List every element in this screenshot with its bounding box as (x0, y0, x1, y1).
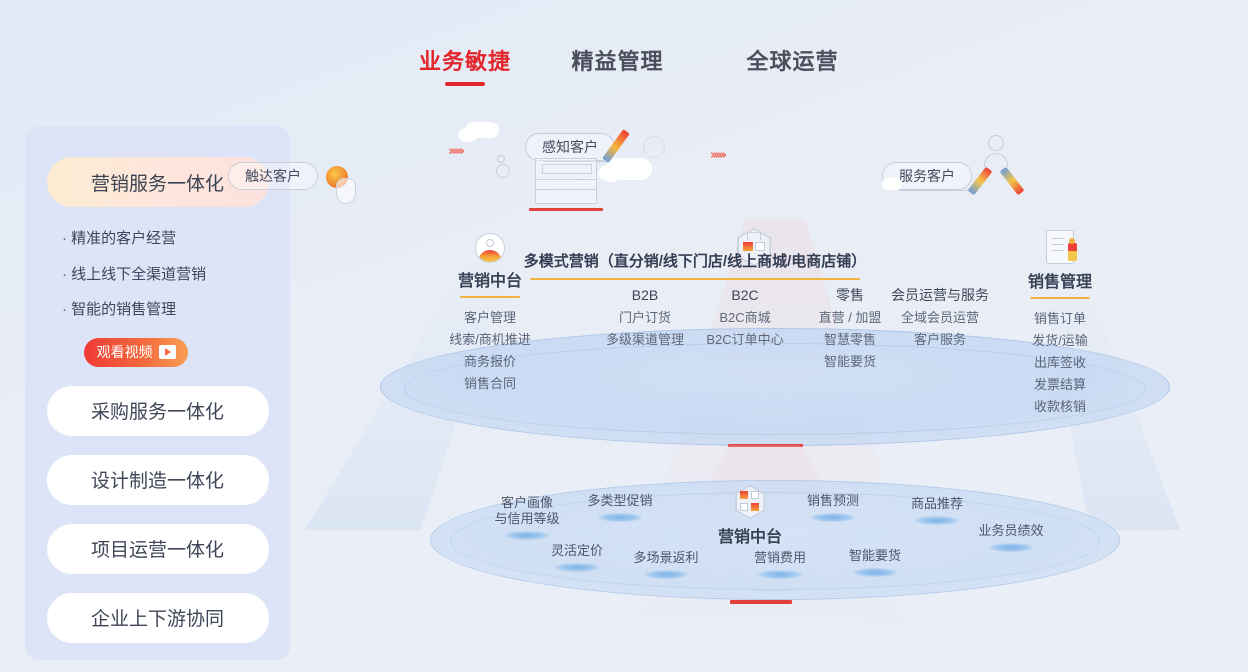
center-column-membership-item-1: 客户服务 (860, 329, 1020, 351)
store-kiosk-icon (535, 158, 597, 204)
tag-product-recommendation: 商品推荐 (892, 496, 982, 525)
watch-video-button[interactable]: 观看视频 (84, 338, 188, 367)
sales-management-item-4: 收款核销 (1000, 396, 1120, 418)
sidebar-bullet-1: 线上线下全渠道营销 (62, 267, 290, 284)
multi-mode-marketing-rule (530, 278, 860, 280)
tag-sales-forecast-label: 销售预测 (788, 493, 878, 509)
sales-management-item-1: 发货/运输 (1000, 330, 1120, 352)
tag-base-2 (598, 513, 642, 522)
search-magnifier-head (497, 155, 505, 163)
sales-management-item-0: 销售订单 (1000, 308, 1120, 330)
sales-management-title: 销售管理 (1000, 268, 1120, 292)
sales-management-column: 销售管理 销售订单 发货/运输 出库签收 发票结算 收款核销 (1000, 230, 1120, 418)
tag-multi-promotion-label: 多类型促销 (575, 493, 665, 509)
tag-marketing-expense: 营销费用 (735, 550, 825, 579)
tag-base-7 (853, 568, 897, 577)
lightbulb-icon (643, 136, 665, 158)
marketing-platform-item-0: 客户管理 (430, 307, 550, 329)
sidebar-bullet-2: 智能的销售管理 (62, 302, 290, 319)
tag-base-3 (555, 563, 599, 572)
flow-step-reach[interactable]: 触达客户 (228, 162, 318, 190)
marketing-platform-item-3: 销售合同 (430, 373, 550, 395)
tag-smart-ordering: 智能要货 (830, 548, 920, 577)
flow-step-perceive-label: 感知客户 (542, 137, 598, 157)
sales-management-item-3: 发票结算 (1000, 374, 1120, 396)
upper-platform-accent-line (728, 444, 803, 447)
store-accent-line (529, 208, 603, 211)
center-column-membership-head: 会员运营与服务 (860, 283, 1020, 307)
chevron-arrow-1: ›››››› (448, 144, 462, 159)
bottom-marketing-platform-title: 营销中台 (705, 523, 795, 547)
watch-video-label: 观看视频 (97, 342, 153, 362)
tag-base-9 (989, 543, 1033, 552)
tab-business-agile[interactable]: 业务敏捷 (400, 44, 530, 86)
chevron-arrow-2: ›››››› (710, 148, 724, 163)
play-icon (159, 345, 176, 359)
tag-customer-profile: 客户画像 与信用等级 (482, 495, 572, 540)
marketing-platform-item-1: 线索/商机推进 (430, 329, 550, 351)
tag-multi-scenario-rebate-label: 多场景返利 (618, 550, 714, 566)
person-icon-head (988, 135, 1004, 151)
center-column-membership-item-0: 全域会员运营 (860, 307, 1020, 329)
sidebar-pill-list: 采购服务一体化 设计制造一体化 项目运营一体化 企业上下游协同 (25, 386, 290, 643)
bottom-marketing-platform: 营销中台 (705, 485, 795, 547)
sales-management-item-2: 出库签收 (1000, 352, 1120, 374)
marketing-platform-rule (460, 296, 520, 298)
sidebar-item-design-manufacture[interactable]: 设计制造一体化 (47, 455, 269, 505)
flow-step-perceive[interactable]: 感知客户 (525, 133, 615, 161)
center-column-membership: 会员运营与服务 全域会员运营 客户服务 (860, 283, 1020, 351)
center-column-retail-item-2: 智能要货 (780, 351, 920, 373)
customer-flow-row: 感知客户 ›››››› ›››››› 触达客户 服务客户 (300, 100, 1248, 210)
tag-base-6 (758, 570, 802, 579)
tag-marketing-expense-label: 营销费用 (735, 550, 825, 566)
tag-flexible-pricing-label: 灵活定价 (532, 543, 622, 559)
flow-step-service-label: 服务客户 (899, 166, 955, 186)
clipboard-icon (1000, 230, 1120, 264)
sales-management-rule (1030, 297, 1090, 299)
marketing-platform-item-2: 商务报价 (430, 351, 550, 373)
lower-platform-accent-line (730, 600, 792, 604)
tag-multi-scenario-rebate: 多场景返利 (618, 550, 714, 579)
tag-salesperson-performance: 业务员绩效 (963, 523, 1059, 552)
tag-multi-promotion: 多类型促销 (575, 493, 665, 522)
sidebar-item-project-operation[interactable]: 项目运营一体化 (47, 524, 269, 574)
sidebar-item-supply-chain[interactable]: 企业上下游协同 (47, 593, 269, 643)
tag-sales-forecast: 销售预测 (788, 493, 878, 522)
tag-flexible-pricing: 灵活定价 (532, 543, 622, 572)
tag-base-5 (811, 513, 855, 522)
tag-base-1 (505, 531, 549, 540)
flow-underline-2 (900, 190, 978, 191)
tag-customer-profile-line2: 与信用等级 (482, 511, 572, 527)
cloud-icon-3 (882, 178, 902, 190)
tab-global-operations[interactable]: 全球运营 (705, 44, 880, 86)
multi-mode-marketing-title: 多模式营销（直分销/线下门店/线上商城/电商店铺） (495, 250, 895, 271)
tag-salesperson-performance-label: 业务员绩效 (963, 523, 1059, 539)
sidebar-bullet-list: 精准的客户经营 线上线下全渠道营销 智能的销售管理 (25, 231, 290, 319)
tag-smart-ordering-label: 智能要货 (830, 548, 920, 564)
cursor-hand-icon (336, 178, 356, 204)
search-magnifier-icon (496, 164, 510, 178)
tab-lean-management[interactable]: 精益管理 (530, 44, 705, 86)
tag-customer-profile-line1: 客户画像 (482, 495, 572, 511)
tag-product-recommendation-label: 商品推荐 (892, 496, 982, 512)
bottom-hexagon-icon (705, 485, 795, 519)
sidebar: 营销服务一体化 精准的客户经营 线上线下全渠道营销 智能的销售管理 观看视频 采… (25, 126, 290, 660)
cloud-icon-1b (458, 128, 478, 142)
tag-base-8 (915, 516, 959, 525)
tag-base-4 (644, 570, 688, 579)
multi-mode-marketing-block: 多模式营销（直分销/线下门店/线上商城/电商店铺） (495, 250, 895, 280)
person-icon-body (984, 153, 1008, 167)
sidebar-item-procurement[interactable]: 采购服务一体化 (47, 386, 269, 436)
cloud-icon-2b (598, 164, 624, 182)
sidebar-bullet-0: 精准的客户经营 (62, 231, 290, 248)
service-bar-right (1000, 167, 1025, 196)
flow-step-reach-label: 触达客户 (245, 166, 301, 186)
diagram-stage: 感知客户 ›››››› ›››››› 触达客户 服务客户 (300, 100, 1248, 660)
tab-bar: 业务敏捷 精益管理 全球运营 (400, 44, 900, 86)
